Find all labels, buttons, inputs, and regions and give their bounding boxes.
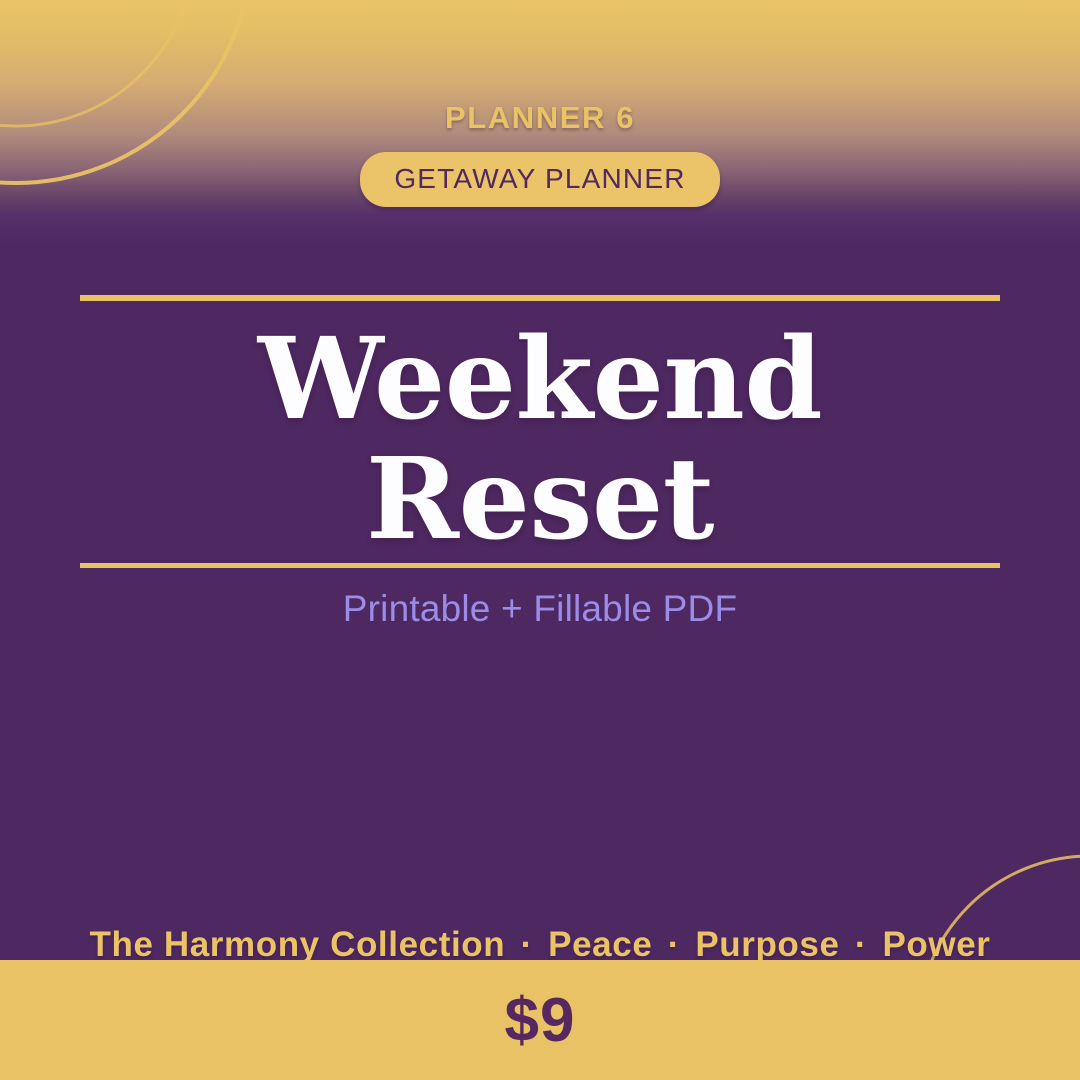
collection-tagline: The Harmony Collection · Peace · Purpose…: [0, 925, 1080, 965]
format-subtitle: Printable + Fillable PDF: [0, 588, 1080, 630]
product-poster: PLANNER 6 GETAWAY PLANNER Weekend Reset …: [0, 0, 1080, 1080]
tagline-separator-2: ·: [663, 925, 685, 964]
page-title: Weekend Reset: [0, 324, 1080, 556]
tagline-value-2: Purpose: [695, 925, 839, 964]
category-badge[interactable]: GETAWAY PLANNER: [360, 152, 719, 207]
divider-top: [80, 295, 1000, 301]
tagline-collection: The Harmony Collection: [89, 925, 505, 964]
price-banner: $9: [0, 960, 1080, 1080]
eyebrow-label: PLANNER 6: [0, 100, 1080, 136]
price-label: $9: [505, 985, 576, 1056]
title-line-1: Weekend: [0, 324, 1080, 436]
tagline-value-3: Power: [882, 925, 990, 964]
badge-container: GETAWAY PLANNER: [0, 152, 1080, 207]
divider-bottom: [80, 563, 1000, 568]
tagline-separator-1: ·: [516, 925, 538, 964]
tagline-value-1: Peace: [548, 925, 652, 964]
title-line-2: Reset: [0, 444, 1080, 556]
tagline-separator-3: ·: [850, 925, 872, 964]
